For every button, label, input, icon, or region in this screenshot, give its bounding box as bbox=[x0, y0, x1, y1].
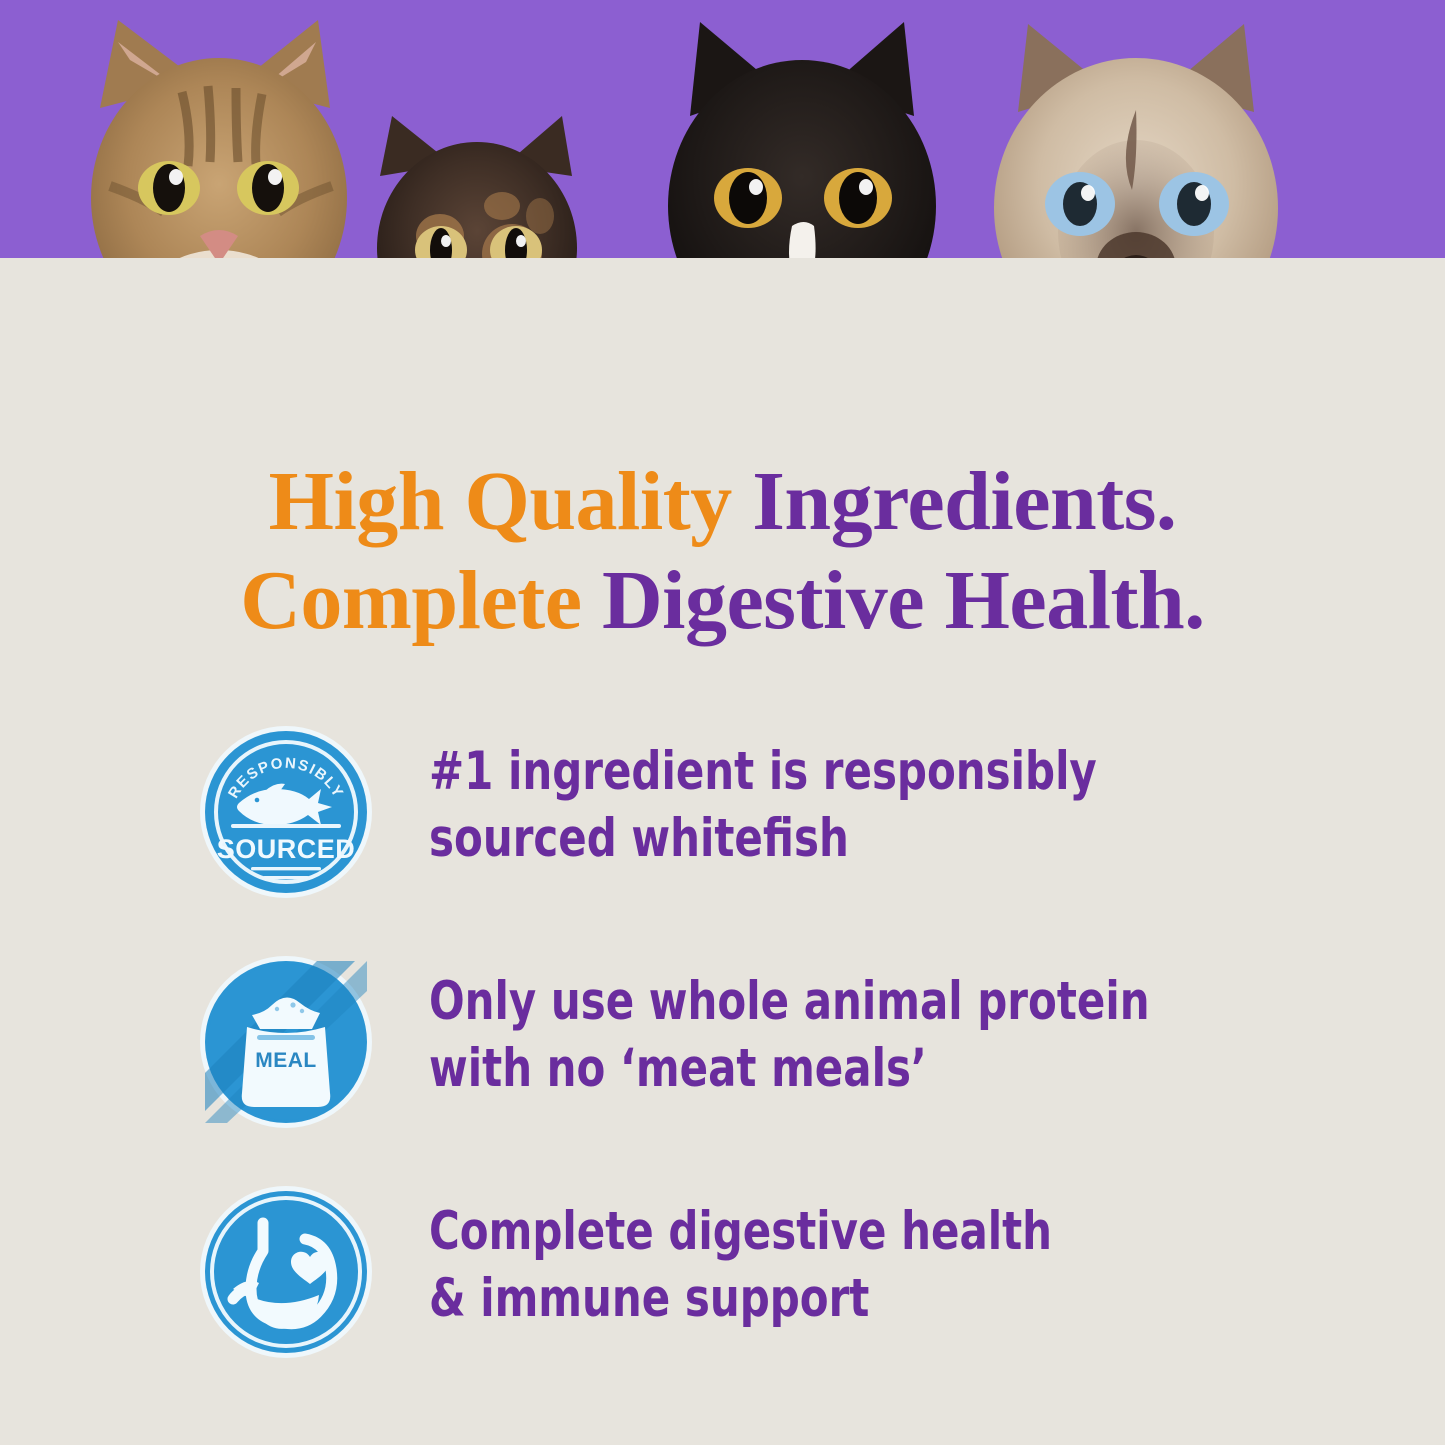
meal-bag-svg: MEAL bbox=[205, 961, 367, 1123]
headline-line-1-purple: Ingredients. bbox=[752, 455, 1176, 548]
feature-text-line-1: Only use whole animal protein bbox=[429, 969, 1323, 1036]
headline-line-2-purple: Digestive Health. bbox=[602, 554, 1205, 647]
headline-line-1: High Quality Ingredients. bbox=[0, 452, 1445, 551]
page-title: High Quality Ingredients. Complete Diges… bbox=[0, 452, 1445, 650]
cat-banner bbox=[0, 0, 1445, 420]
banner-curve-divider bbox=[0, 258, 1445, 420]
feature-text-line-2: & immune support bbox=[429, 1266, 1323, 1333]
responsibly-sourced-badge-icon: RESPONSIBLY SOURCED bbox=[205, 731, 367, 893]
feature-text: Complete digestive health & immune suppo… bbox=[429, 1199, 1323, 1333]
feature-text-line-2: with no ‘meat meals’ bbox=[429, 1036, 1323, 1103]
list-item: RESPONSIBLY SOURCED bbox=[0, 725, 1445, 955]
headline-line-2: Complete Digestive Health. bbox=[0, 551, 1445, 650]
badge-circle: RESPONSIBLY SOURCED bbox=[205, 731, 367, 893]
stomach-circle bbox=[205, 1191, 367, 1353]
feature-text-line-1: #1 ingredient is responsibly bbox=[429, 739, 1323, 806]
feature-text: #1 ingredient is responsibly sourced whi… bbox=[429, 739, 1323, 873]
stomach-heart-icon bbox=[205, 1191, 367, 1353]
list-item: Complete digestive health & immune suppo… bbox=[0, 1185, 1445, 1415]
badge-svg: RESPONSIBLY SOURCED bbox=[205, 731, 367, 893]
feature-list: RESPONSIBLY SOURCED bbox=[0, 725, 1445, 1415]
product-feature-poster: High Quality Ingredients. Complete Diges… bbox=[0, 0, 1445, 1445]
no-meat-meal-icon: MEAL bbox=[205, 961, 367, 1123]
meal-bag-label: MEAL bbox=[255, 1049, 317, 1072]
list-item: MEAL Only use whole animal protein with … bbox=[0, 955, 1445, 1185]
feature-text-line-1: Complete digestive health bbox=[429, 1199, 1323, 1266]
headline-line-2-orange: Complete bbox=[240, 554, 602, 647]
badge-main-text: SOURCED bbox=[217, 834, 356, 864]
stomach-svg bbox=[205, 1191, 367, 1353]
feature-text: Only use whole animal protein with no ‘m… bbox=[429, 969, 1323, 1103]
meal-circle: MEAL bbox=[205, 961, 367, 1123]
feature-text-line-2: sourced whitefish bbox=[429, 806, 1323, 873]
headline-line-1-orange: High Quality bbox=[269, 455, 753, 548]
